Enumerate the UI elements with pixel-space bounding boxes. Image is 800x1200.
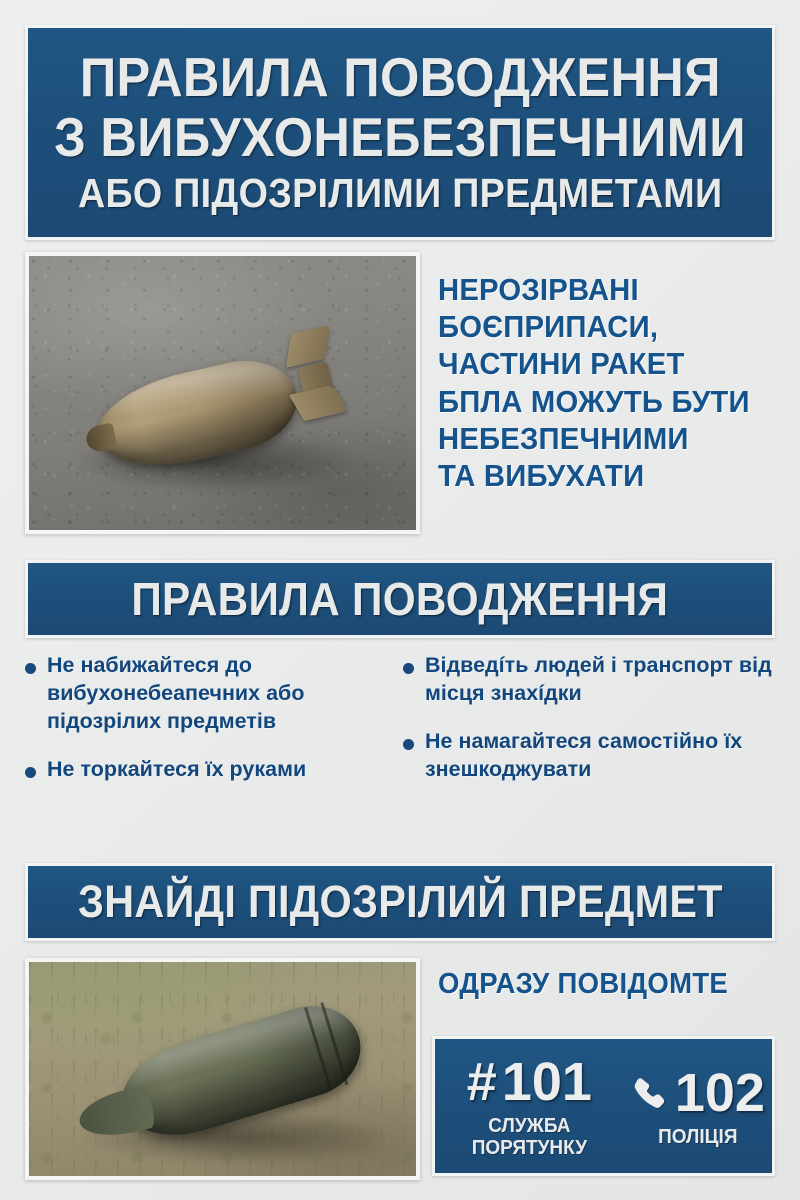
hero-warning-text: НЕРОЗІРВАНІ БОЄПРИПАСИ, ЧАСТИНИ РАКЕТ БП… (438, 272, 782, 495)
hero-line-4: БПЛА МОЖУТЬ БУТИ (438, 384, 768, 421)
rule-text: Не набижайтеся до вибухонебеапечних або … (47, 652, 397, 736)
rules-column-right: Відведíть людей і транспорт від місця зн… (403, 652, 775, 848)
header-line-1: ПРАВИЛА ПОВОДЖЕННЯ (80, 49, 721, 105)
artillery-shell-photo (25, 958, 420, 1180)
rules-banner-label: ПРАВИЛА ПОВОДЖЕННЯ (132, 576, 669, 623)
bullet-dot-icon (403, 739, 414, 750)
bullet-dot-icon (25, 663, 36, 674)
rules-banner: ПРАВИЛА ПОВОДЖЕННЯ (25, 560, 775, 638)
header-line-2: З ВИБУХОНЕБЕЗПЕЧНИМИ (54, 109, 746, 165)
bullet-dot-icon (25, 767, 36, 778)
police-label: ПОЛІЦІЯ (658, 1126, 737, 1148)
contact-rescue-service[interactable]: # 101 СЛУЖБА ПОРЯТУНКУ (435, 1039, 624, 1173)
bullet-dot-icon (403, 663, 414, 674)
contact-police[interactable]: 102 ПОЛІЦІЯ (624, 1039, 772, 1173)
list-item: Не намагайтеся самостійно їх знешкоджува… (403, 728, 775, 784)
rule-text: Не торкайтеся їх руками (47, 756, 306, 784)
police-number-row: 102 (631, 1067, 765, 1120)
phone-icon (631, 1075, 669, 1113)
found-banner-label: ЗНАЙДІ ПІДОЗРІЛИЙ ПРЕДМЕТ (78, 879, 723, 925)
safety-poster: ПРАВИЛА ПОВОДЖЕННЯ З ВИБУХОНЕБЕЗПЕЧНИМИ … (0, 0, 800, 1200)
hero-line-2: БОЄПРИПАСИ, (438, 309, 768, 346)
hero-line-5: НЕБЕЗПЕЧНИМИ (438, 421, 768, 458)
rescue-label: СЛУЖБА ПОРЯТУНКУ (440, 1115, 619, 1160)
rules-column-left: Не набижайтеся до вибухонебеапечних або … (25, 652, 397, 848)
hero-line-1: НЕРОЗІРВАНІ (438, 272, 768, 309)
list-item: Не торкайтеся їх руками (25, 756, 397, 784)
header-line-3: АБО ПІДОЗРІЛИМИ ПРЕДМЕТАМИ (78, 173, 722, 215)
emergency-contacts-box: # 101 СЛУЖБА ПОРЯТУНКУ 102 ПОЛІЦІЯ (432, 1036, 775, 1176)
police-number: 102 (675, 1067, 765, 1120)
hash-icon: # (467, 1056, 497, 1109)
poster-header: ПРАВИЛА ПОВОДЖЕННЯ З ВИБУХОНЕБЕЗПЕЧНИМИ … (25, 25, 775, 240)
mortar-bomb-photo (25, 252, 420, 534)
hero-line-3: ЧАСТИНИ РАКЕТ (438, 346, 768, 383)
rescue-number-row: # 101 (467, 1056, 592, 1109)
found-object-banner: ЗНАЙДІ ПІДОЗРІЛИЙ ПРЕДМЕТ (25, 863, 775, 941)
list-item: Не набижайтеся до вибухонебеапечних або … (25, 652, 397, 736)
fin-lower (288, 385, 348, 421)
notify-label: ОДРАЗУ ПОВІДОМТЕ (438, 968, 728, 1001)
rules-list: Не набижайтеся до вибухонебеапечних або … (25, 652, 775, 848)
rule-text: Не намагайтеся самостійно їх знешкоджува… (425, 728, 775, 784)
hero-line-6: ТА ВИБУХАТИ (438, 458, 768, 495)
list-item: Відведíть людей і транспорт від місця зн… (403, 652, 775, 708)
rule-text: Відведíть людей і транспорт від місця зн… (425, 652, 775, 708)
rescue-number: 101 (502, 1056, 592, 1109)
